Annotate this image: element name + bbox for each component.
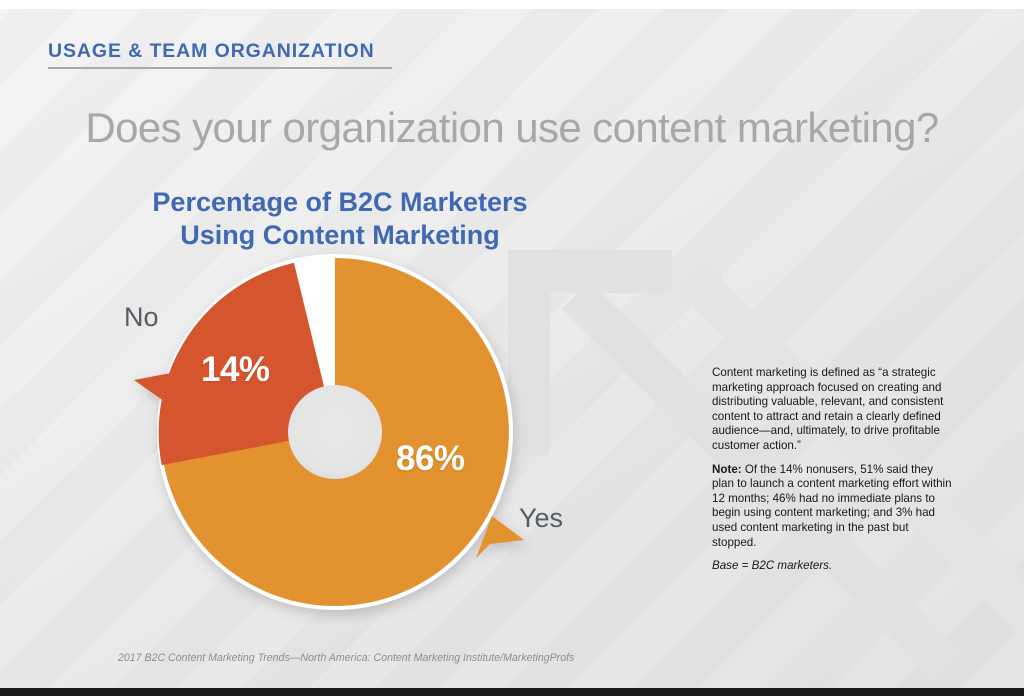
notes-panel: Content marketing is defined as “a strat… bbox=[712, 366, 955, 574]
chart-title-line-1: Percentage of B2C Marketers bbox=[60, 186, 620, 219]
note-base: Base = B2C marketers. bbox=[712, 559, 955, 574]
note-label: Note: bbox=[712, 463, 742, 476]
section-header-label: USAGE & TEAM ORGANIZATION bbox=[48, 40, 468, 63]
section-header: USAGE & TEAM ORGANIZATION bbox=[48, 40, 468, 69]
note-definition: Content marketing is defined as “a strat… bbox=[712, 366, 955, 454]
slide-top-edge bbox=[0, 0, 1024, 9]
page-title: Does your organization use content marke… bbox=[0, 104, 1024, 152]
slice-value-yes: 86% bbox=[396, 439, 465, 479]
slice-category-no: No bbox=[124, 302, 159, 333]
donut-center-hole bbox=[288, 385, 382, 479]
note-body: Of the 14% nonusers, 51% said they plan … bbox=[712, 463, 952, 549]
donut-chart-svg bbox=[120, 244, 560, 624]
source-footer: 2017 B2C Content Marketing Trends—North … bbox=[118, 652, 574, 664]
slice-category-yes: Yes bbox=[519, 503, 563, 534]
chart-title: Percentage of B2C Marketers Using Conten… bbox=[60, 186, 620, 252]
slice-value-no: 14% bbox=[201, 350, 270, 390]
note-nonusers: Note: Of the 14% nonusers, 51% said they… bbox=[712, 463, 955, 551]
slide-canvas: USAGE & TEAM ORGANIZATION Does your orga… bbox=[0, 0, 1024, 696]
section-header-rule bbox=[48, 67, 392, 69]
donut-chart bbox=[120, 244, 560, 624]
slide-bottom-edge bbox=[0, 688, 1024, 696]
